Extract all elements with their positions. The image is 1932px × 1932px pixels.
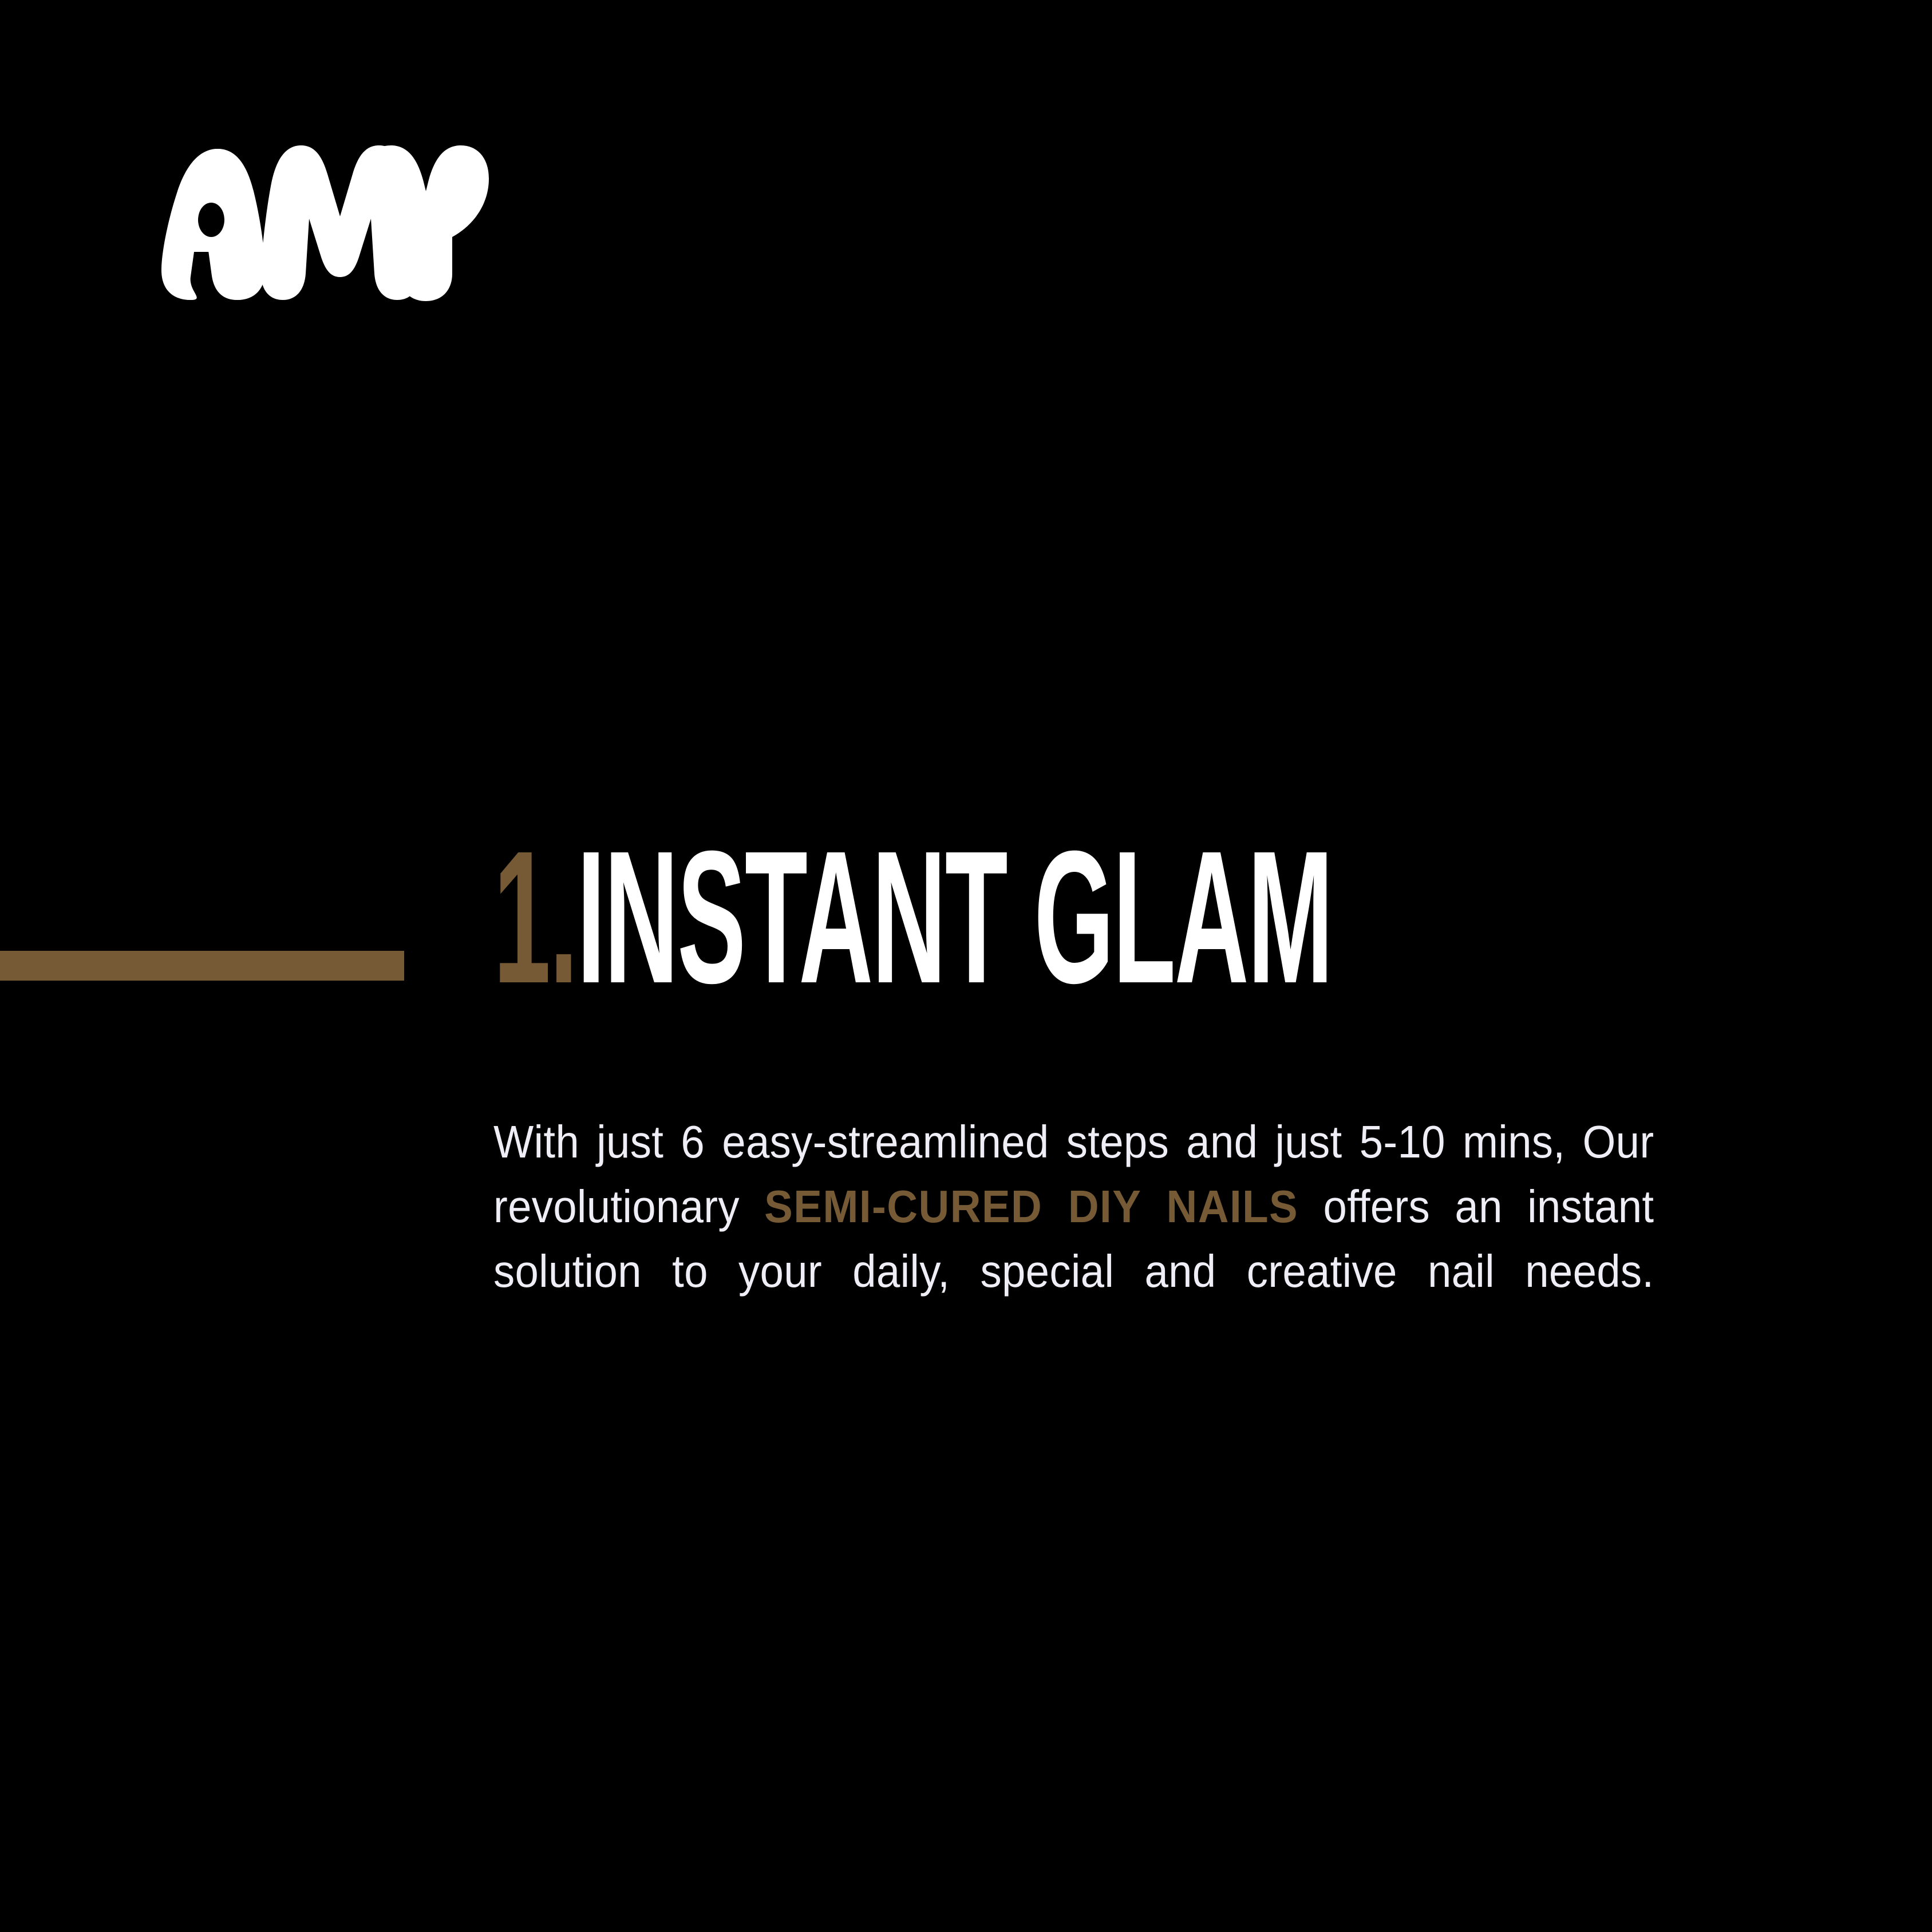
section-title: INSTANT GLAM: [577, 811, 1332, 1022]
accent-rule: [0, 951, 404, 981]
amy-wordmark-icon: [136, 133, 491, 305]
section-description: With just 6 easy-streamlined steps and j…: [493, 1109, 1654, 1368]
section-heading-block: 1.INSTANT GLAM: [493, 836, 1741, 998]
brand-logo: AMY: [136, 133, 491, 305]
page-title: 1.INSTANT GLAM: [493, 836, 1174, 998]
promo-slide: { "canvas": { "background_color": "#0000…: [0, 0, 1932, 1932]
description-highlight: SEMI-CURED DIY NAILS: [764, 1181, 1298, 1232]
section-number: 1.: [493, 811, 577, 1022]
